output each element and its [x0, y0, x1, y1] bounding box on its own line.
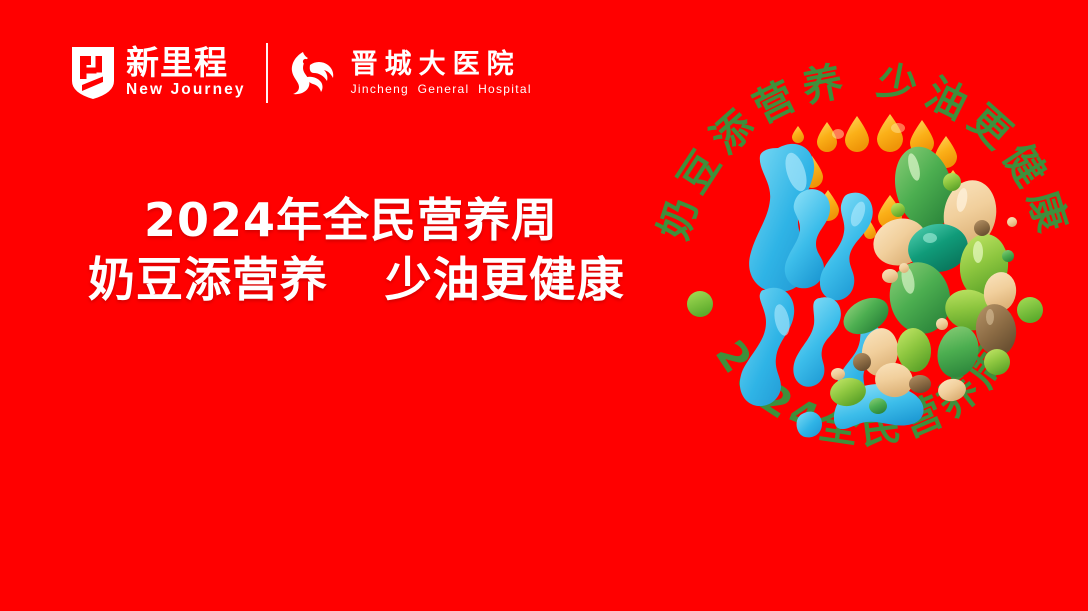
header-divider — [266, 43, 268, 103]
new-journey-logo[interactable]: 新里程 New Journey — [70, 45, 246, 101]
new-journey-wordmark: 新里程 New Journey — [126, 46, 246, 99]
shield-h-logo-icon — [70, 45, 116, 101]
poster-canvas: 新里程 New Journey 晋城大医院 Jincheng General H… — [0, 0, 1088, 611]
green-dot-icon — [687, 291, 713, 317]
green-dot-icon — [1017, 297, 1043, 323]
new-journey-cn-name: 新里程 — [126, 46, 246, 80]
hospital-wordmark: 晋城大医院 Jincheng General Hospital — [351, 50, 532, 97]
headline-line-2a: 奶豆添营养 — [88, 253, 328, 308]
headline-block: 2024年全民营养周 奶豆添营养 少油更健康 — [88, 190, 648, 312]
headline-line-2b: 少油更健康 — [385, 253, 625, 308]
emblem-graphic: 奶豆添营养 少油更健康 2024全民营养周 — [652, 62, 1076, 486]
hospital-en-name: Jincheng General Hospital — [351, 82, 532, 96]
headline-line-1: 2024年全民营养周 — [88, 190, 648, 250]
hospital-logo[interactable]: 晋城大医院 Jincheng General Hospital — [287, 49, 532, 97]
logo-bar: 新里程 New Journey 晋城大医院 Jincheng General H… — [70, 38, 532, 108]
nutrition-week-emblem[interactable]: 奶豆添营养 少油更健康 2024全民营养周 — [652, 62, 1076, 486]
phoenix-flame-logo-icon — [287, 49, 339, 97]
new-journey-en-name: New Journey — [126, 81, 246, 100]
headline-line-2: 奶豆添营养 少油更健康 — [88, 250, 648, 312]
hospital-cn-name: 晋城大医院 — [351, 50, 532, 79]
